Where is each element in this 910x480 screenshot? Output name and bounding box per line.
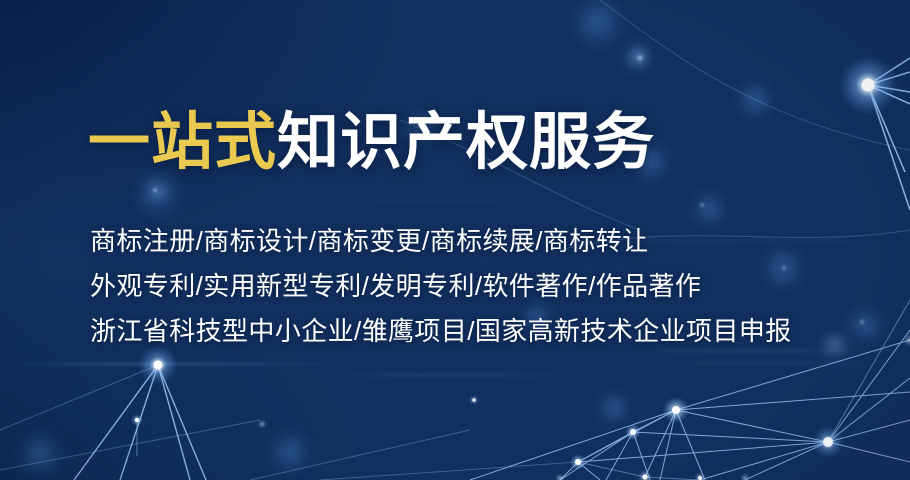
promo-banner: 一站式知识产权服务 商标注册/商标设计/商标变更/商标续展/商标转让 外观专利/… <box>0 0 910 480</box>
subtitle-line-1: 商标注册/商标设计/商标变更/商标续展/商标转让 <box>90 228 649 254</box>
subtitle-line-2: 外观专利/实用新型专利/发明专利/软件著作/作品著作 <box>90 273 701 299</box>
headline-highlight: 一站式 <box>88 108 277 177</box>
page-title: 一站式知识产权服务 <box>88 112 655 174</box>
headline-rest: 知识产权服务 <box>277 108 655 177</box>
subtitle-line-3: 浙江省科技型中小企业/雏鹰项目/国家高新技术企业项目申报 <box>90 318 792 344</box>
text-block: 一站式知识产权服务 商标注册/商标设计/商标变更/商标续展/商标转让 外观专利/… <box>88 0 848 480</box>
